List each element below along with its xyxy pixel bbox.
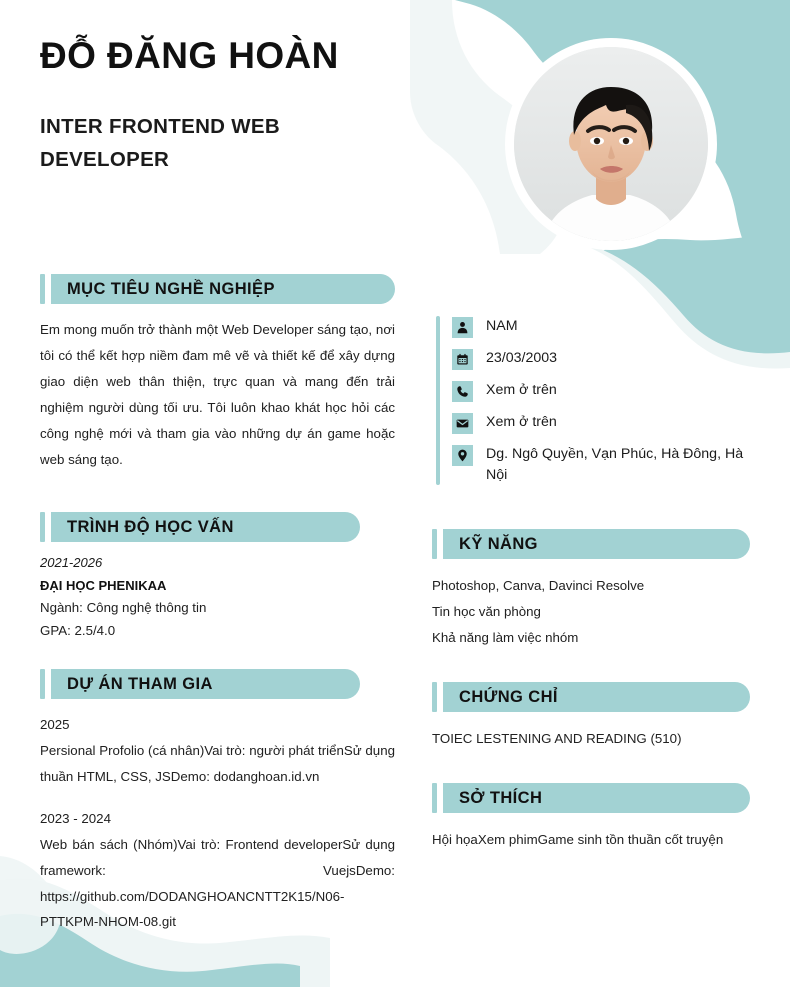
avatar bbox=[505, 38, 717, 250]
section-body-education: 2021-2026 ĐẠI HỌC PHENIKAA Ngành: Công n… bbox=[40, 552, 360, 643]
section-title-certificates: CHỨNG CHỈ bbox=[443, 682, 750, 712]
project-year: 2023 - 2024 bbox=[40, 806, 395, 832]
section-title-education: TRÌNH ĐỘ HỌC VẤN bbox=[51, 512, 360, 542]
section-certificates: CHỨNG CHỈ TOIEC LESTENING AND READING (5… bbox=[432, 682, 750, 752]
contact-value: Xem ở trên bbox=[486, 412, 557, 433]
spacer bbox=[40, 790, 395, 806]
hobby-item: Hội họaXem phimGame sinh tồn thuần cốt t… bbox=[432, 827, 750, 853]
section-body-objective: Em mong muốn trở thành một Web Developer… bbox=[40, 317, 395, 473]
job-title: INTER FRONTEND WEB DEVELOPER bbox=[40, 110, 370, 176]
section-title-hobbies: SỞ THÍCH bbox=[443, 783, 750, 813]
contact-value: 23/03/2003 bbox=[486, 348, 557, 369]
section-skills: KỸ NĂNG Photoshop, Canva, Davinci Resolv… bbox=[432, 529, 750, 651]
person-icon bbox=[452, 317, 473, 338]
section-body-hobbies: Hội họaXem phimGame sinh tồn thuần cốt t… bbox=[432, 827, 750, 853]
section-accent-bar bbox=[432, 529, 437, 559]
section-title-objective: MỤC TIÊU NGHỀ NGHIỆP bbox=[51, 274, 395, 304]
section-header-objective: MỤC TIÊU NGHỀ NGHIỆP bbox=[40, 274, 395, 304]
contact-value: NAM bbox=[486, 316, 518, 337]
section-body-skills: Photoshop, Canva, Davinci Resolve Tin họ… bbox=[432, 573, 750, 651]
education-school: ĐẠI HỌC PHENIKAA bbox=[40, 574, 360, 597]
project-item: 2023 - 2024 Web bán sách (Nhóm)Vai trò: … bbox=[40, 806, 395, 936]
section-body-projects: 2025 Persional Profolio (cá nhân)Vai trò… bbox=[40, 712, 395, 935]
section-header-skills: KỸ NĂNG bbox=[432, 529, 750, 559]
objective-text: Em mong muốn trở thành một Web Developer… bbox=[40, 317, 395, 473]
section-header-certificates: CHỨNG CHỈ bbox=[432, 682, 750, 712]
contact-row-phone: Xem ở trên bbox=[452, 380, 756, 402]
project-description: Web bán sách (Nhóm)Vai trò: Frontend dev… bbox=[40, 832, 395, 936]
section-hobbies: SỞ THÍCH Hội họaXem phimGame sinh tồn th… bbox=[432, 783, 750, 853]
section-accent-bar bbox=[432, 783, 437, 813]
contact-row-address: Dg. Ngô Quyền, Vạn Phúc, Hà Đông, Hà Nội bbox=[452, 444, 756, 485]
avatar-image bbox=[514, 47, 708, 241]
section-accent-bar bbox=[432, 682, 437, 712]
cv-page: ĐỖ ĐĂNG HOÀN INTER FRONTEND WEB DEVELOPE… bbox=[0, 0, 790, 987]
section-accent-bar bbox=[40, 669, 45, 699]
section-title-projects: DỰ ÁN THAM GIA bbox=[51, 669, 360, 699]
section-education: TRÌNH ĐỘ HỌC VẤN 2021-2026 ĐẠI HỌC PHENI… bbox=[40, 512, 360, 643]
location-pin-icon bbox=[452, 445, 473, 466]
project-description: Persional Profolio (cá nhân)Vai trò: ngư… bbox=[40, 738, 395, 790]
certificate-item: TOIEC LESTENING AND READING (510) bbox=[432, 726, 750, 752]
section-body-certificates: TOIEC LESTENING AND READING (510) bbox=[432, 726, 750, 752]
envelope-icon bbox=[452, 413, 473, 434]
page-title: ĐỖ ĐĂNG HOÀN bbox=[40, 36, 339, 77]
skill-item: Tin học văn phòng bbox=[432, 599, 750, 625]
calendar-icon bbox=[452, 349, 473, 370]
section-projects: DỰ ÁN THAM GIA 2025 Persional Profolio (… bbox=[40, 669, 360, 935]
project-year: 2025 bbox=[40, 712, 395, 738]
education-years: 2021-2026 bbox=[40, 552, 360, 574]
section-title-skills: KỸ NĂNG bbox=[443, 529, 750, 559]
contact-row-birthdate: 23/03/2003 bbox=[452, 348, 756, 370]
contact-value: Xem ở trên bbox=[486, 380, 557, 401]
skill-item: Photoshop, Canva, Davinci Resolve bbox=[432, 573, 750, 599]
contact-value: Dg. Ngô Quyền, Vạn Phúc, Hà Đông, Hà Nội bbox=[486, 444, 756, 485]
project-item: 2025 Persional Profolio (cá nhân)Vai trò… bbox=[40, 712, 395, 790]
education-major: Ngành: Công nghệ thông tin bbox=[40, 597, 360, 620]
contact-row-email: Xem ở trên bbox=[452, 412, 756, 434]
contact-list: NAM bbox=[436, 316, 756, 485]
section-header-hobbies: SỞ THÍCH bbox=[432, 783, 750, 813]
section-objective: MỤC TIÊU NGHỀ NGHIỆP Em mong muốn trở th… bbox=[40, 274, 395, 473]
section-header-education: TRÌNH ĐỘ HỌC VẤN bbox=[40, 512, 360, 542]
contact-row-gender: NAM bbox=[452, 316, 756, 338]
contact-accent-rail bbox=[436, 316, 440, 485]
section-header-projects: DỰ ÁN THAM GIA bbox=[40, 669, 360, 699]
skill-item: Khả năng làm việc nhóm bbox=[432, 625, 750, 651]
section-accent-bar bbox=[40, 274, 45, 304]
phone-icon bbox=[452, 381, 473, 402]
education-gpa: GPA: 2.5/4.0 bbox=[40, 620, 360, 643]
section-accent-bar bbox=[40, 512, 45, 542]
